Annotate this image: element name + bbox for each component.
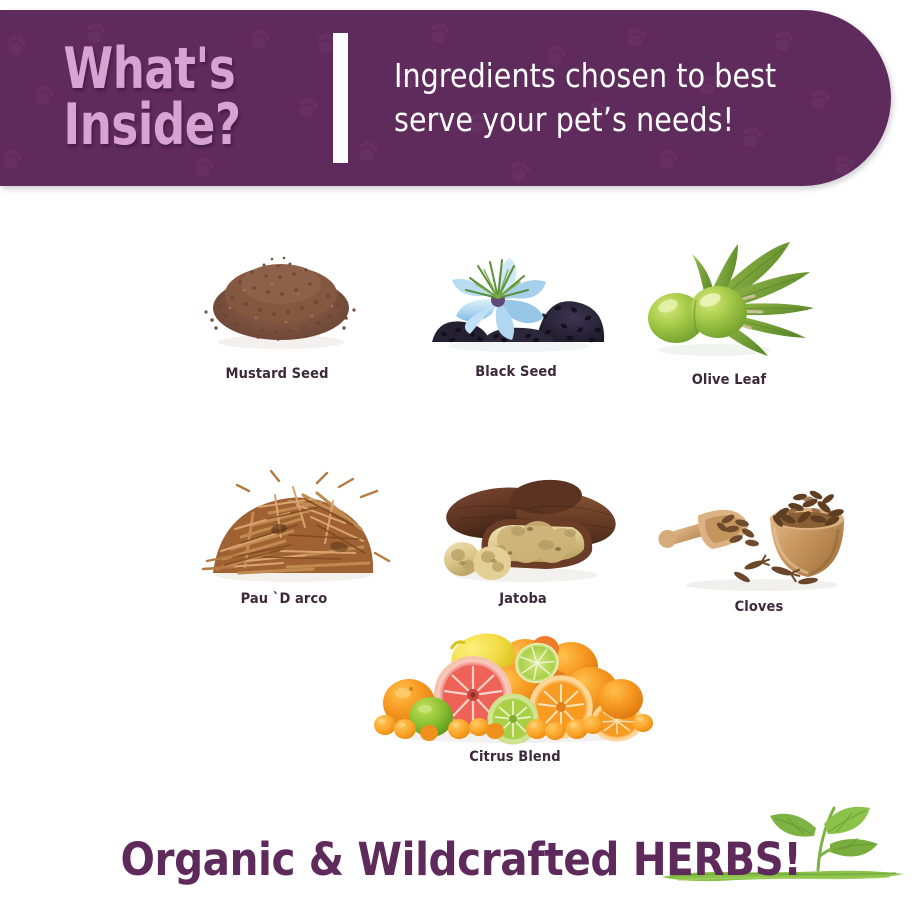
ingredient-label: Cloves <box>659 599 859 615</box>
footer-headline: Organic & Wildcrafted HERBS! <box>0 833 922 886</box>
ingredient-label: Jatoba <box>423 591 623 607</box>
banner-title: What's Inside? <box>0 42 293 154</box>
ingredient-grid: Mustard Seed <box>0 200 922 795</box>
banner-subtitle: Ingredients chosen to best serve your pe… <box>394 54 776 141</box>
header-banner: What's Inside? Ingredients chosen to bes… <box>0 10 891 186</box>
banner-divider <box>333 33 348 163</box>
jatoba-pod-icon <box>426 457 626 587</box>
footer-banner: Organic & Wildcrafted HERBS! <box>0 810 922 900</box>
ingredient-item-citrus-blend: Citrus Blend <box>355 625 675 765</box>
citrus-fruit-icon <box>365 625 665 745</box>
ingredient-item-mustard-seed: Mustard Seed <box>186 232 376 382</box>
ingredient-item-black-seed: Black Seed <box>424 230 614 380</box>
ingredient-item-jatoba: Jatoba <box>426 457 626 607</box>
ingredient-row-1: Mustard Seed <box>0 200 922 415</box>
black-seed-icon <box>424 230 614 360</box>
ingredient-label: Olive Leaf <box>634 372 824 388</box>
ingredient-label: Black Seed <box>421 364 611 380</box>
ingredient-label: Pau `D arco <box>184 591 384 607</box>
ingredient-row-3: Citrus Blend <box>0 630 922 795</box>
ingredient-item-pau-darco: Pau `D arco <box>193 457 393 607</box>
ingredient-item-olive-leaf: Olive Leaf <box>634 238 824 388</box>
ingredient-row-2: Pau `D arco <box>0 415 922 630</box>
ingredient-label: Mustard Seed <box>182 366 372 382</box>
banner-content: What's Inside? Ingredients chosen to bes… <box>0 10 891 186</box>
ingredient-item-cloves: Cloves <box>658 465 858 615</box>
mustard-seed-icon <box>186 232 376 362</box>
infographic-page: What's Inside? Ingredients chosen to bes… <box>0 0 922 906</box>
olive-leaf-icon <box>634 238 824 368</box>
cloves-bowl-icon <box>658 465 858 595</box>
pau-darco-bark-icon <box>193 457 393 587</box>
ingredient-label: Citrus Blend <box>355 749 675 765</box>
